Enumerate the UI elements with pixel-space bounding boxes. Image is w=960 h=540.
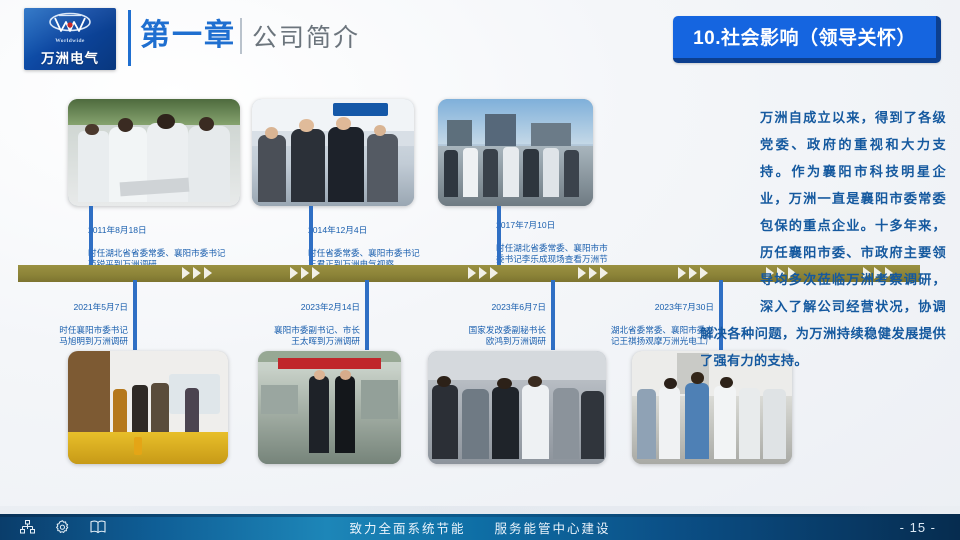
event-caption-e6: 2023年6月7日 国家发改委副秘书长 欧鸿到万洲调研 — [418, 290, 546, 348]
event-date-e1: 2011年8月18日 — [88, 225, 147, 235]
event-caption-e1: 2011年8月18日 时任湖北省省委常委、襄阳市委书记 范锐平到万洲调研 — [88, 213, 268, 271]
event-caption-e3: 2014年12月4日 时任省委常委、襄阳市委书记 王君正到万洲电气视察 — [308, 213, 478, 271]
timeline-tick-e4 — [365, 280, 369, 350]
page-number: - 15 - — [900, 520, 936, 535]
event-caption-e7: 2023年7月30日 湖北省委常委、襄阳市委书 记王祺扬观摩万洲光电工厂 — [578, 290, 714, 348]
chapter-subtitle: 公司简介 — [252, 16, 360, 60]
timeline-tick-e6 — [551, 280, 555, 350]
event-text-e6: 国家发改委副秘书长 欧鸿到万洲调研 — [469, 325, 546, 347]
timeline-chevrons — [578, 265, 622, 282]
logo-english-text: Worldwide — [55, 38, 85, 44]
event-photo-e5 — [438, 99, 593, 206]
footer-slogan: 致力全面系统节能 服务能管中心建设 — [0, 518, 960, 537]
event-text-e4: 襄阳市委副书记、市长 王太晖到万洲调研 — [274, 325, 360, 347]
event-photo-e3 — [252, 99, 414, 206]
text-wrap-spacer — [700, 104, 760, 319]
event-date-e2: 2021年5月7日 — [74, 302, 128, 312]
company-logo: Worldwide 万洲电气 — [24, 8, 116, 70]
event-date-e3: 2014年12月4日 — [308, 225, 367, 235]
timeline-chevrons — [182, 265, 226, 282]
timeline-tick-e1 — [89, 206, 93, 268]
timeline-tick-e3 — [309, 206, 313, 268]
event-photo-e2 — [68, 351, 228, 464]
timeline-chevrons — [468, 265, 512, 282]
header-accent-bar — [128, 10, 131, 66]
slide-canvas: Worldwide 万洲电气 第一章 公司简介 10.社会影响（领导关怀） — [0, 0, 960, 540]
event-caption-e4: 2023年2月14日 襄阳市委副书记、市长 王太晖到万洲调研 — [232, 290, 360, 348]
logo-chinese-text: 万洲电气 — [41, 47, 99, 67]
description-paragraph: 万洲自成立以来，得到了各级党委、政府的重视和大力支持。作为襄阳市科技明星企业，万… — [700, 104, 946, 374]
event-date-e4: 2023年2月14日 — [301, 302, 360, 312]
topic-badge: 10.社会影响（领导关怀） — [673, 16, 941, 63]
w-emblem-icon — [47, 12, 93, 36]
event-caption-e2: 2021年5月7日 时任襄阳市委书记 马旭明到万洲调研 — [0, 290, 128, 348]
event-text-e7: 湖北省委常委、襄阳市委书 记王祺扬观摩万洲光电工厂 — [611, 325, 714, 347]
timeline-tick-e2 — [133, 280, 137, 350]
event-text-e2: 时任襄阳市委书记 马旭明到万洲调研 — [59, 325, 128, 347]
event-photo-e4 — [258, 351, 401, 464]
event-photo-e1 — [68, 99, 240, 206]
footer-top-strip — [0, 506, 960, 514]
event-date-e5: 2017年7月10日 — [496, 220, 555, 230]
timeline-chevrons — [290, 265, 334, 282]
header-separator — [240, 18, 242, 54]
chapter-title: 第一章 — [140, 14, 236, 58]
event-photo-e6 — [428, 351, 606, 464]
timeline-tick-e5 — [497, 206, 501, 268]
event-date-e6: 2023年6月7日 — [492, 302, 546, 312]
slide-footer: 致力全面系统节能 服务能管中心建设 - 15 - — [0, 514, 960, 540]
